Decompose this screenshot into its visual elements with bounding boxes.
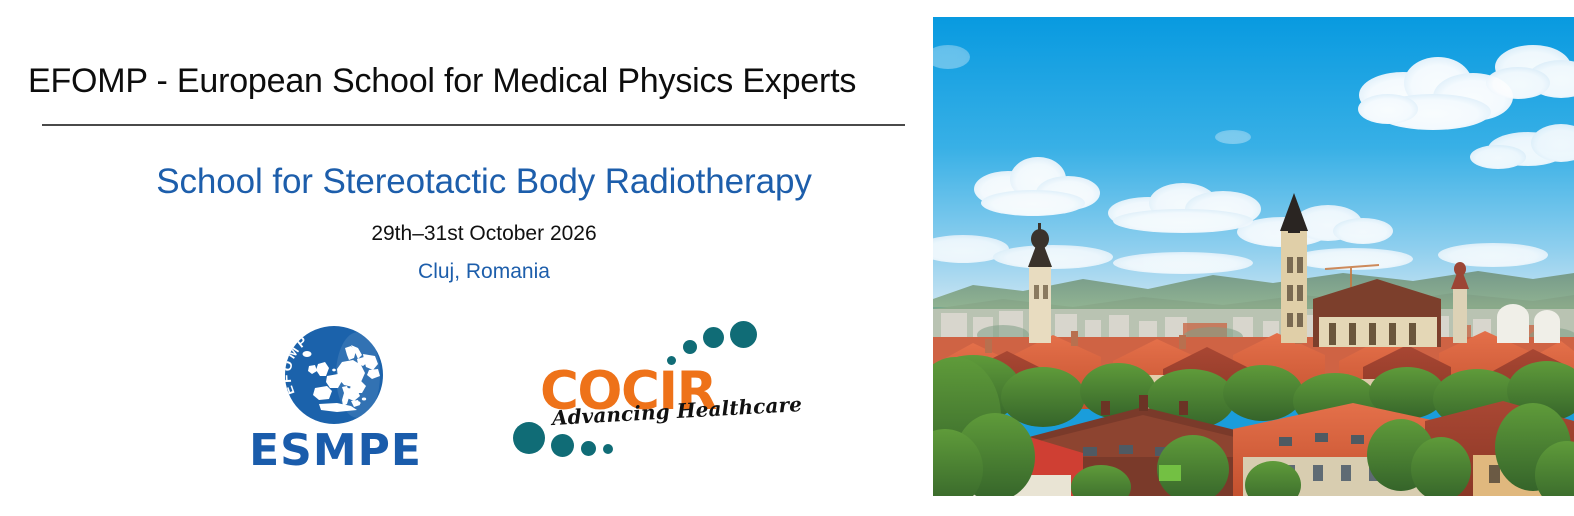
efomp-arc-text: EFOMP — [285, 326, 383, 424]
cluj-photo-illustration — [933, 17, 1574, 496]
efomp-arc-label: EFOMP — [285, 332, 312, 397]
efomp-globe-icon: EFOMP — [285, 326, 383, 424]
cluj-city-photo — [933, 17, 1574, 496]
cocir-logo: COCIR Advancing Healthcare — [505, 318, 760, 483]
organisation-title: EFOMP - European School for Medical Phys… — [28, 62, 908, 101]
cocir-dot — [603, 444, 613, 454]
esmpe-logo: EFOMP ESMPE — [243, 326, 428, 476]
header-divider — [42, 124, 905, 126]
event-banner: EFOMP - European School for Medical Phys… — [0, 0, 1574, 516]
cocir-dot — [581, 441, 596, 456]
school-title: School for Stereotactic Body Radiotherap… — [0, 162, 968, 202]
text-panel: EFOMP - European School for Medical Phys… — [0, 0, 933, 516]
logo-row: EFOMP ESMPE — [0, 318, 968, 488]
cocir-dot — [513, 422, 545, 454]
event-location: Cluj, Romania — [0, 260, 968, 284]
cocir-dot — [703, 327, 724, 348]
cocir-dot — [683, 340, 697, 354]
event-dates: 29th–31st October 2026 — [0, 222, 968, 246]
cocir-dot — [730, 321, 757, 348]
green-sign — [1159, 465, 1181, 481]
esmpe-wordmark: ESMPE — [243, 425, 428, 476]
cocir-dot — [551, 434, 574, 457]
